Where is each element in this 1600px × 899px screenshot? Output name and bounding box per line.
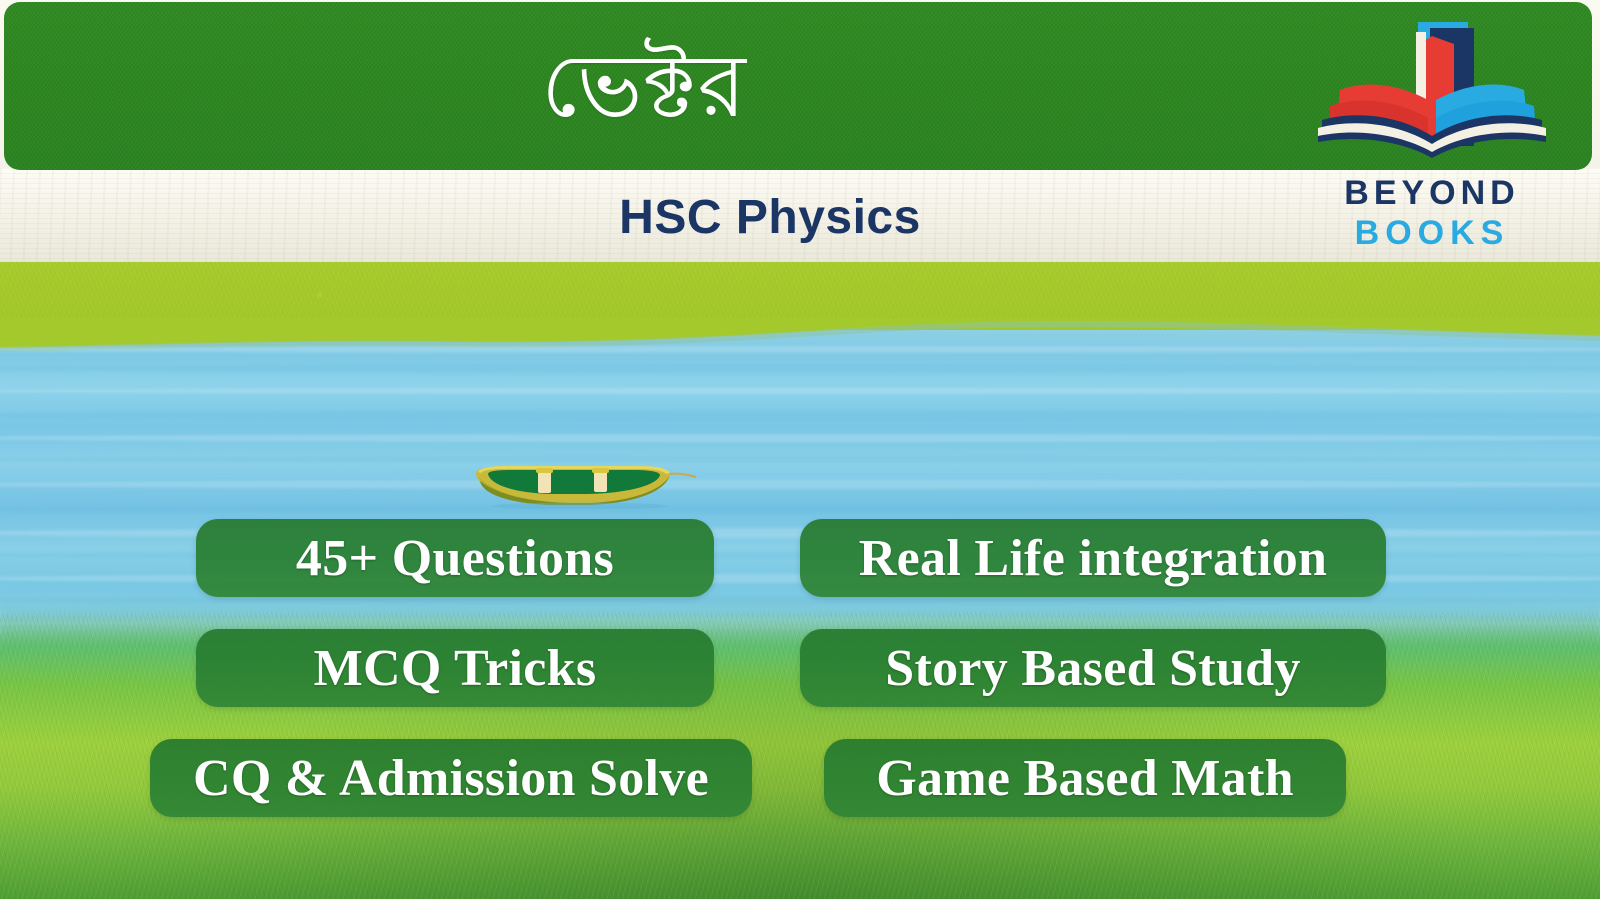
feature-pill-real-life[interactable]: Real Life integration [800,519,1386,597]
logo-text-books: BOOKS [1282,214,1582,253]
feature-pill-questions-count[interactable]: 45+ Questions [196,519,714,597]
logo-text-beyond: BEYOND [1282,174,1582,213]
page-title: ভেক্টর [4,8,1284,168]
brand-logo[interactable]: BEYOND BOOKS [1282,14,1582,264]
feature-pill-mcq-tricks[interactable]: MCQ Tricks [196,629,714,707]
open-book-with-door-icon [1304,14,1560,174]
feature-pill-cq-admission[interactable]: CQ & Admission Solve [150,739,752,817]
feature-pill-story-based[interactable]: Story Based Study [800,629,1386,707]
rowing-boat-illustration [470,457,700,509]
slide-canvas: ভেক্টর HSC Physics [0,0,1600,899]
feature-pill-game-based-math[interactable]: Game Based Math [824,739,1346,817]
